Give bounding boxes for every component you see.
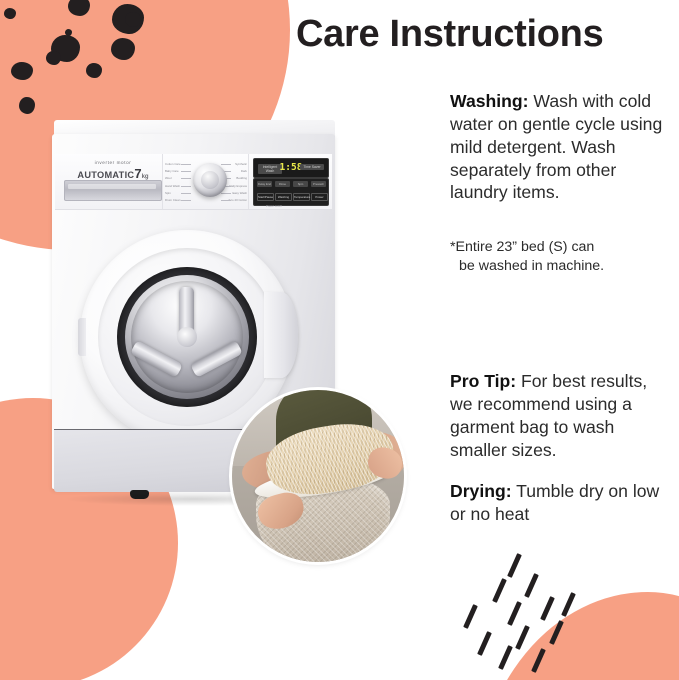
dial-tick — [221, 200, 231, 201]
display-time-value: 1:58 — [280, 162, 303, 173]
panel-option-button[interactable]: Spin — [293, 181, 308, 187]
display-cluster: Intelligent Wash 1:58 Time Saver Delay E… — [252, 156, 328, 208]
footnote-line-2: be washed in machine. — [450, 257, 672, 276]
panel-divider-right — [248, 154, 249, 209]
diagonal-dash — [477, 631, 492, 656]
panel-function-button[interactable]: Start/Pause — [257, 193, 274, 201]
footnote-paragraph: *Entire 23” bed (S) can be washed in mac… — [450, 238, 672, 276]
confetti-dot — [86, 63, 102, 78]
pro-tip-label: Pro Tip: — [450, 371, 516, 391]
diagonal-dash — [463, 604, 478, 629]
dial-tick — [181, 193, 191, 194]
diagonal-dash — [507, 553, 522, 578]
confetti-dot — [19, 97, 35, 114]
dial-label: Eco 20 Cotton — [229, 198, 247, 202]
drum-center-hub — [177, 327, 197, 347]
dial-label: Drum Clean — [165, 198, 180, 202]
button-bar: Delay EndRinseSpinPrewash Start/PauseWas… — [253, 178, 329, 206]
pro-tip-paragraph: Pro Tip: For best results, we recommend … — [450, 370, 672, 461]
diagonal-dash — [524, 573, 539, 598]
panel-footer-text: Power on/off — [266, 204, 282, 208]
dial-label: Daily Express — [229, 184, 247, 188]
dial-label: Hand Wash — [165, 184, 180, 188]
panel-option-button[interactable]: Rinse — [275, 181, 290, 187]
panel-function-button[interactable]: Power — [311, 193, 328, 201]
panel-option-button[interactable]: Prewash — [311, 181, 326, 187]
program-selector-dial[interactable] — [193, 163, 227, 197]
dial-tick — [181, 186, 191, 187]
care-instructions-graphic: Care Instructions inverter motor AUTOMAT… — [0, 0, 679, 680]
program-dial-zone: Cotton CareBaby CareWoolHand WashSpinDru… — [165, 156, 247, 208]
dial-tick — [181, 178, 191, 179]
door-hinge — [78, 318, 86, 356]
confetti-dot — [4, 8, 16, 19]
dial-label: Bedding — [236, 176, 247, 180]
footnote-block: *Entire 23” bed (S) can be washed in mac… — [450, 238, 672, 276]
dial-label: Cotton Care — [165, 162, 181, 166]
washing-instruction-block: Washing: Wash with cold water on gentle … — [450, 90, 672, 204]
diagonal-dash — [540, 596, 555, 621]
panel-function-button[interactable]: Temperature — [293, 193, 310, 201]
door-glass — [125, 275, 249, 399]
detergent-drawer[interactable] — [64, 180, 162, 201]
panel-divider-left — [162, 154, 163, 209]
dial-label: Spin — [165, 191, 171, 195]
dial-tick — [221, 164, 231, 165]
dial-tick — [221, 193, 231, 194]
diagonal-dash — [498, 645, 513, 670]
washing-paragraph: Washing: Wash with cold water on gentle … — [450, 90, 672, 204]
diagonal-dash — [492, 578, 507, 603]
washing-label: Washing: — [450, 91, 529, 111]
brand-title: AUTOMATIC — [77, 170, 134, 180]
footnote-line-1: *Entire 23” bed (S) can — [450, 239, 594, 255]
dial-label: Easy Wash — [232, 191, 247, 195]
digital-display: Intelligent Wash 1:58 Time Saver — [253, 158, 329, 178]
drum-paddle-3 — [190, 340, 243, 378]
drum-paddle-2 — [130, 340, 183, 378]
dial-tick — [181, 200, 191, 201]
door-handle[interactable] — [264, 292, 298, 378]
capacity-value: 7 — [134, 166, 141, 181]
dial-tick — [181, 171, 191, 172]
brand-subtitle: inverter motor — [70, 160, 156, 165]
confetti-dot — [65, 29, 72, 36]
display-right-label: Time Saver — [300, 164, 324, 170]
door-gasket — [117, 267, 257, 407]
drying-block: Drying: Tumble dry on low or no heat — [450, 480, 672, 526]
diagonal-dash — [515, 625, 530, 650]
confetti-dot — [111, 38, 135, 60]
diagonal-dash — [507, 601, 522, 626]
peach-blob-bottom-right-fill — [560, 640, 679, 680]
page-title: Care Instructions — [296, 14, 666, 56]
confetti-dot — [11, 62, 33, 80]
drum-interior — [131, 281, 243, 393]
garment-bag-photo — [232, 390, 404, 562]
panel-option-button[interactable]: Delay End — [257, 181, 272, 187]
panel-function-button[interactable]: Washing — [275, 193, 292, 201]
drying-paragraph: Drying: Tumble dry on low or no heat — [450, 480, 672, 526]
dial-label: Dark — [241, 169, 247, 173]
confetti-dot — [46, 51, 61, 65]
dial-tick — [181, 164, 191, 165]
dial-label: Baby Care — [165, 169, 179, 173]
pro-tip-block: Pro Tip: For best results, we recommend … — [450, 370, 672, 461]
dial-label: Wool — [165, 176, 172, 180]
drying-label: Drying: — [450, 481, 512, 501]
confetti-dot — [125, 12, 141, 27]
display-left-label: Intelligent Wash — [258, 164, 282, 174]
dial-label: Synthetic — [235, 162, 247, 166]
